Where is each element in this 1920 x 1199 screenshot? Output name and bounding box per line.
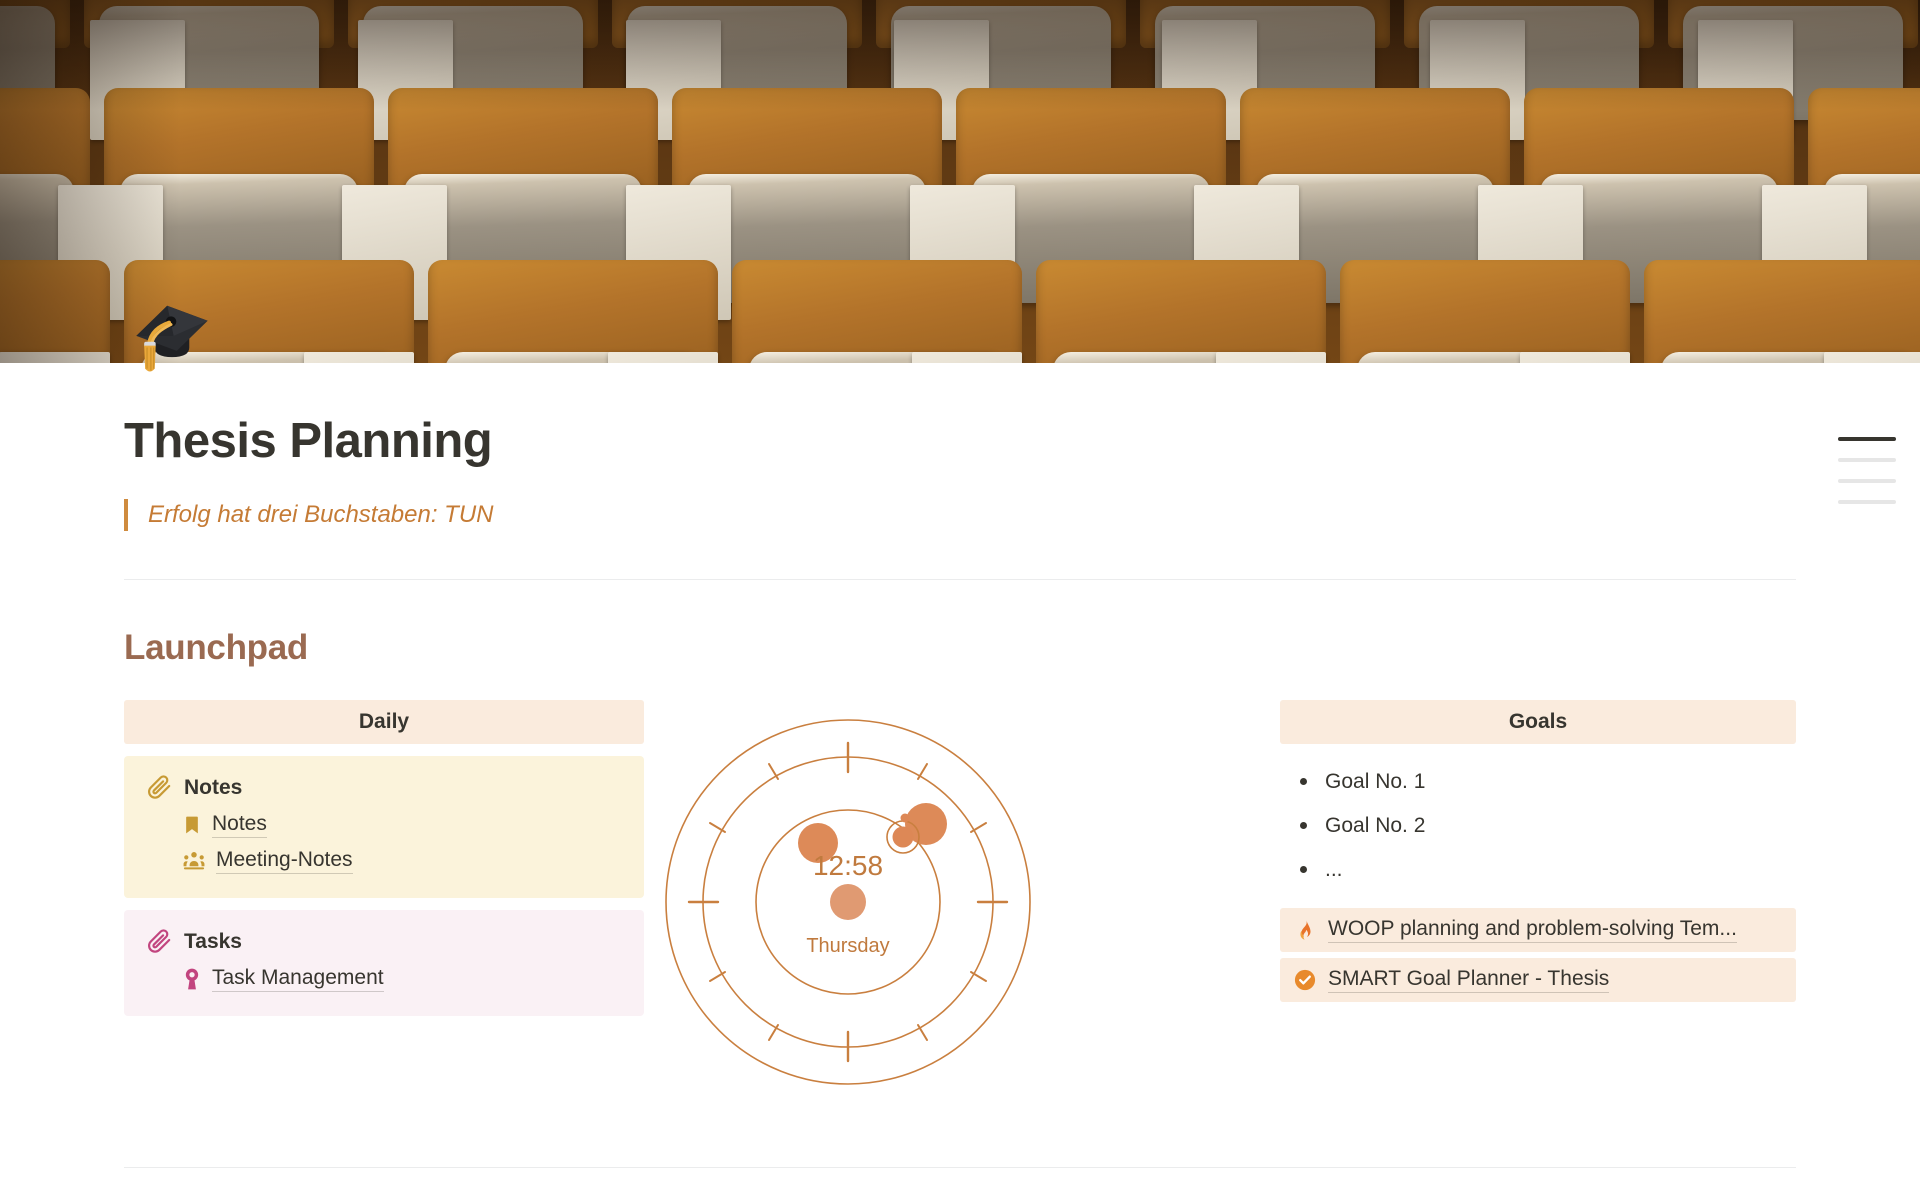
column-clock: 12:58 Thursday <box>644 700 1280 1016</box>
keyhole-icon <box>182 967 202 991</box>
task-management-link-row[interactable]: Task Management <box>182 966 622 992</box>
goal-label: ... <box>1325 858 1343 882</box>
daily-column-header: Daily <box>124 700 644 744</box>
seat-row-front <box>0 260 1920 363</box>
page-outline-indicator[interactable] <box>1832 437 1896 504</box>
notes-card-title: Notes <box>184 777 242 798</box>
callout-smart-goal-planner[interactable]: SMART Goal Planner - Thesis <box>1280 958 1796 1002</box>
check-circle-icon <box>1294 969 1316 991</box>
list-item[interactable]: ... <box>1286 858 1790 882</box>
goal-label: Goal No. 1 <box>1325 770 1425 794</box>
notes-card-title-row: Notes <box>146 774 622 800</box>
clock-time-text: 12:58 <box>813 850 883 881</box>
goals-list: Goal No. 1 Goal No. 2 ... <box>1280 744 1796 882</box>
goals-column-header: Goals <box>1280 700 1796 744</box>
callout-label[interactable]: SMART Goal Planner - Thesis <box>1328 967 1609 993</box>
section-heading-launchpad[interactable]: Launchpad <box>124 628 1804 668</box>
page-content: Thesis Planning Erfolg hat drei Buchstab… <box>0 363 1920 1016</box>
notes-link-row[interactable]: Notes <box>182 812 622 838</box>
clock-center-dot <box>830 884 866 920</box>
notes-link-label[interactable]: Notes <box>212 812 267 838</box>
bullet-icon <box>1300 778 1307 785</box>
goal-label: Goal No. 2 <box>1325 814 1425 838</box>
goals-callout-list: WOOP planning and problem-solving Tem...… <box>1280 908 1796 1002</box>
tasks-card: Tasks Task Management <box>124 910 644 1016</box>
top-divider <box>124 579 1796 580</box>
bullet-icon <box>1300 866 1307 873</box>
tasks-card-title-row: Tasks <box>146 928 622 954</box>
notes-card: Notes Notes <box>124 756 644 898</box>
bookmark-icon <box>182 814 202 836</box>
lecture-hall-photo <box>0 0 1920 363</box>
list-item[interactable]: Goal No. 1 <box>1286 770 1790 794</box>
paperclip-icon <box>146 928 172 954</box>
bottom-divider <box>124 1167 1796 1168</box>
tasks-card-title: Tasks <box>184 931 242 952</box>
clock-weekday-text: Thursday <box>806 935 889 957</box>
page-title[interactable]: Thesis Planning <box>124 415 1804 469</box>
bullet-icon <box>1300 822 1307 829</box>
graduation-cap-icon[interactable] <box>124 288 220 384</box>
column-daily: Daily Notes <box>124 700 644 1016</box>
outline-line[interactable] <box>1838 458 1896 462</box>
page-cover-image[interactable] <box>0 0 1920 363</box>
notion-page: Thesis Planning Erfolg hat drei Buchstab… <box>0 0 1920 1199</box>
people-meeting-icon <box>182 850 206 872</box>
meeting-notes-link-label[interactable]: Meeting-Notes <box>216 848 353 874</box>
paperclip-icon <box>146 774 172 800</box>
outline-line[interactable] <box>1838 500 1896 504</box>
outline-line-active[interactable] <box>1838 437 1896 441</box>
list-item[interactable]: Goal No. 2 <box>1286 814 1790 838</box>
orbital-clock-widget[interactable]: 12:58 Thursday <box>648 712 1048 1092</box>
outline-line[interactable] <box>1838 479 1896 483</box>
column-goals: Goals Goal No. 1 Goal No. 2 ... <box>1280 700 1796 1016</box>
meeting-notes-link-row[interactable]: Meeting-Notes <box>182 848 622 874</box>
page-quote-callout: Erfolg hat drei Buchstaben: TUN <box>124 499 1804 531</box>
callout-label[interactable]: WOOP planning and problem-solving Tem... <box>1328 917 1737 943</box>
task-management-link-label[interactable]: Task Management <box>212 966 384 992</box>
launchpad-columns: Daily Notes <box>124 700 1796 1016</box>
callout-woop-template[interactable]: WOOP planning and problem-solving Tem... <box>1280 908 1796 952</box>
fire-icon <box>1294 918 1316 942</box>
